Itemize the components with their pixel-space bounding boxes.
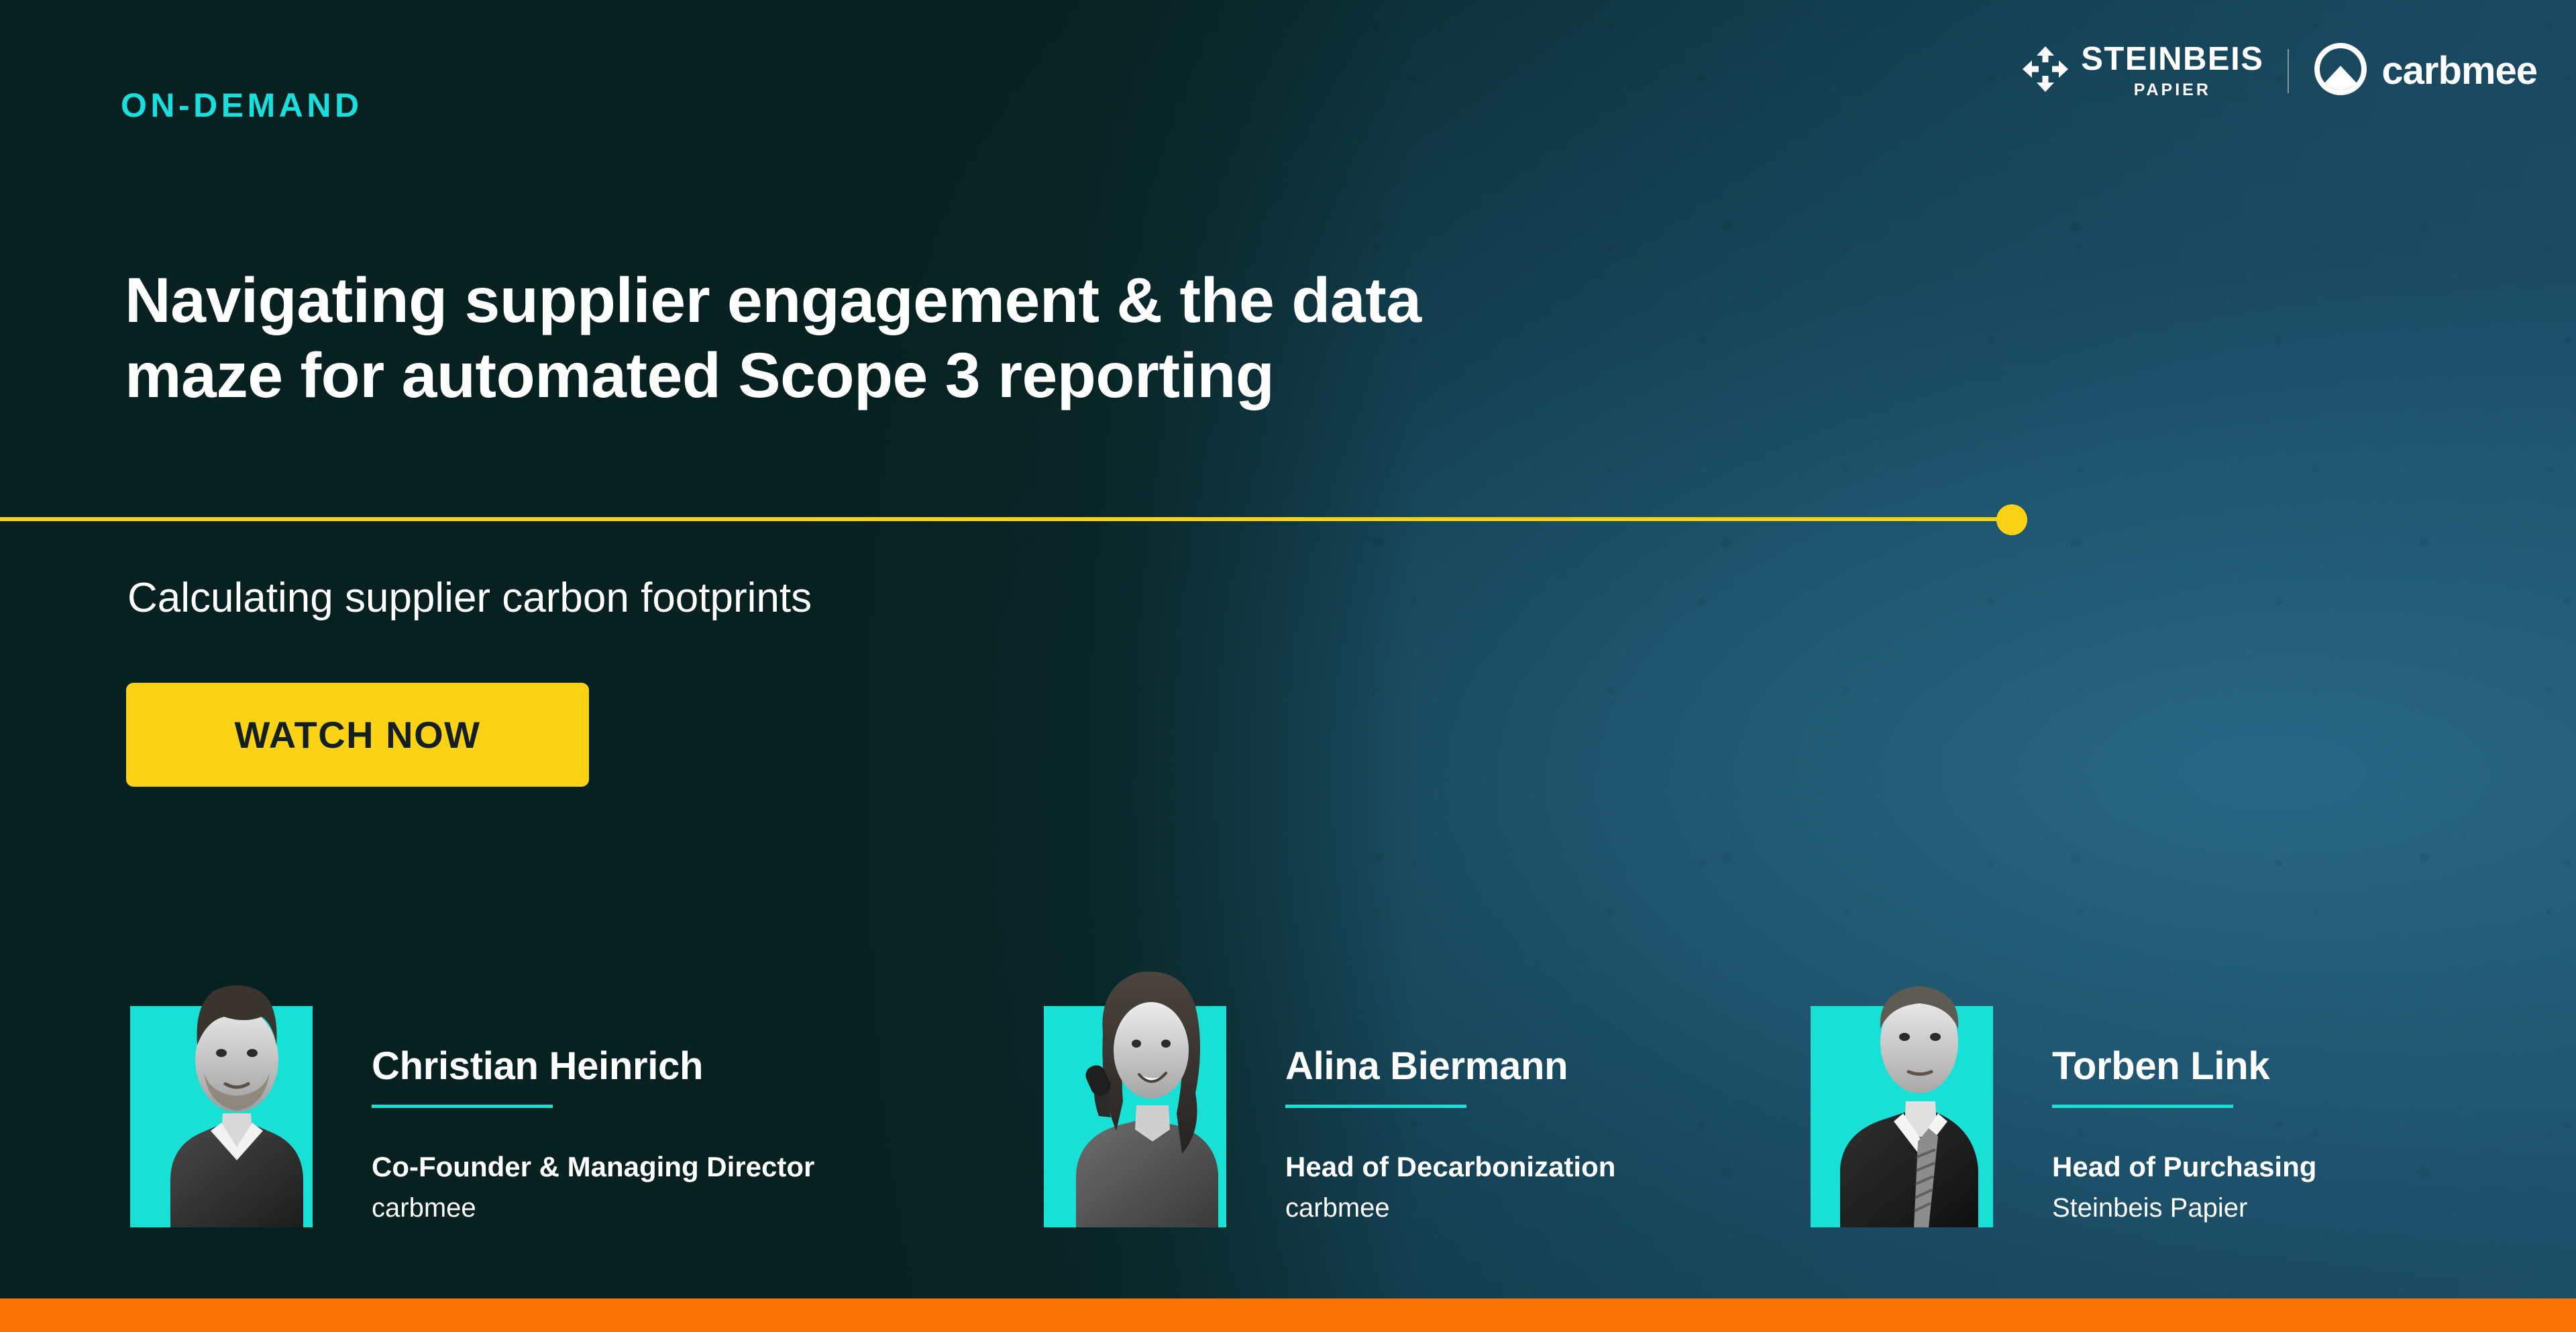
speaker-card: Christian Heinrich Co-Founder & Managing… bbox=[126, 865, 998, 1227]
headline-line-1: Navigating supplier engagement & the dat… bbox=[125, 263, 2104, 338]
speaker-role: Co-Founder & Managing Director bbox=[372, 1151, 998, 1183]
subtitle: Calculating supplier carbon footprints bbox=[127, 573, 812, 623]
carbmee-wordmark: carbmee bbox=[2381, 52, 2537, 91]
speaker-name: Alina Biermann bbox=[1285, 1046, 1838, 1087]
steinbeis-subname: PAPIER bbox=[2134, 82, 2211, 99]
steinbeis-wordmark: STEINBEIS PAPIER bbox=[2081, 43, 2263, 99]
speaker-name: Christian Heinrich bbox=[372, 1046, 998, 1087]
headline-line-2: maze for automated Scope 3 reporting bbox=[125, 338, 2104, 413]
speaker-company: Steinbeis Papier bbox=[2052, 1192, 2518, 1223]
webinar-promo-banner: ON-DEMAND STEINBEIS PAPIER bbox=[0, 0, 2576, 1332]
accent-rule-dot bbox=[1996, 504, 2027, 535]
headline: Navigating supplier engagement & the dat… bbox=[125, 263, 2104, 413]
speaker-photo-block bbox=[1040, 865, 1246, 1227]
speaker-role: Head of Decarbonization bbox=[1285, 1151, 1838, 1183]
speaker-text-block: Alina Biermann Head of Decarbonization c… bbox=[1246, 865, 1838, 1227]
speaker-text-block: Christian Heinrich Co-Founder & Managing… bbox=[333, 865, 998, 1227]
speaker-card: Alina Biermann Head of Decarbonization c… bbox=[1040, 865, 1838, 1227]
portrait-alina-biermann bbox=[1064, 892, 1237, 1227]
speaker-underline bbox=[2052, 1105, 2233, 1108]
speaker-photo-block bbox=[126, 865, 333, 1227]
speaker-card: Torben Link Head of Purchasing Steinbeis… bbox=[1807, 865, 2518, 1227]
recycle-icon bbox=[2021, 44, 2070, 97]
bottom-accent-bar bbox=[0, 1298, 2576, 1332]
speaker-list: Christian Heinrich Co-Founder & Managing… bbox=[126, 865, 2514, 1227]
speaker-underline bbox=[1285, 1105, 1466, 1108]
portrait-torben-link bbox=[1831, 892, 2004, 1227]
accent-rule-line bbox=[0, 517, 2009, 521]
portrait-christian-heinrich bbox=[150, 892, 323, 1227]
carbmee-logo: carbmee bbox=[2289, 42, 2537, 100]
eyebrow-label: ON-DEMAND bbox=[121, 89, 363, 122]
speaker-underline bbox=[372, 1105, 553, 1108]
speaker-photo-block bbox=[1807, 865, 2013, 1227]
carbmee-mountain-icon bbox=[2313, 42, 2368, 100]
accent-rule bbox=[0, 504, 2039, 535]
speaker-company: carbmee bbox=[372, 1192, 998, 1223]
speaker-role: Head of Purchasing bbox=[2052, 1151, 2518, 1183]
steinbeis-logo: STEINBEIS PAPIER bbox=[2021, 43, 2288, 99]
speaker-text-block: Torben Link Head of Purchasing Steinbeis… bbox=[2013, 865, 2518, 1227]
speaker-company: carbmee bbox=[1285, 1192, 1838, 1223]
watch-now-button[interactable]: WATCH NOW bbox=[126, 683, 589, 787]
steinbeis-name: STEINBEIS bbox=[2081, 43, 2263, 76]
logo-group: STEINBEIS PAPIER carbmee bbox=[2021, 42, 2537, 100]
speaker-name: Torben Link bbox=[2052, 1046, 2518, 1087]
